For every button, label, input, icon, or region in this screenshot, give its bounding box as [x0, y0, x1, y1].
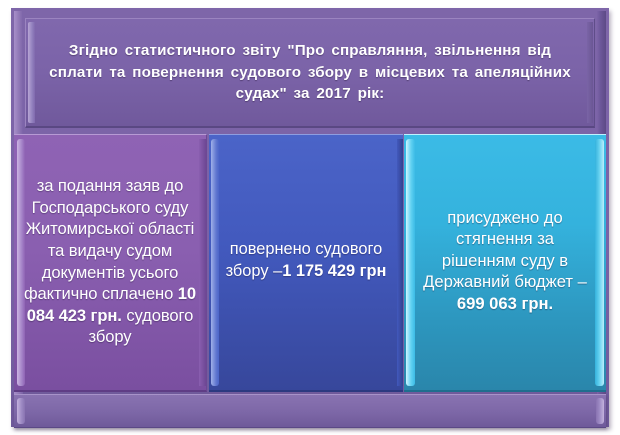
- statistic-box-paid[interactable]: за подання заяв до Господарського суду Ж…: [14, 134, 207, 392]
- returned-amount: 1 175 429 грн: [282, 262, 386, 280]
- bottom-banner-right-bevel: [596, 398, 604, 424]
- statistic-box-awarded[interactable]: присуджено до стягнення за рішенням суду…: [404, 134, 606, 392]
- awarded-lead-text: присуджено до стягнення за рішенням суду…: [423, 208, 587, 292]
- box-right-shadow: [199, 139, 206, 386]
- bottom-banner: [14, 394, 606, 428]
- box-right-shadow: [397, 139, 403, 386]
- statistic-box-paid-text: за подання заяв до Господарського суду Ж…: [21, 175, 199, 350]
- statistic-box-returned[interactable]: повернено судового збору –1 175 429 грн: [209, 134, 403, 392]
- box-left-highlight: [211, 139, 219, 386]
- title-banner-left-bevel: [28, 22, 35, 123]
- statistic-box-awarded-text: присуджено до стягнення за рішенням суду…: [420, 207, 590, 319]
- box-right-highlight: [595, 139, 604, 386]
- statistic-boxes-row: за подання заяв до Господарського суду Ж…: [14, 134, 606, 392]
- title-banner: Згідно статистичного звіту "Про справлян…: [25, 18, 595, 128]
- awarded-amount: 699 063 грн.: [457, 294, 553, 313]
- statistic-box-returned-text: повернено судового збору –1 175 429 грн: [220, 239, 392, 286]
- slide-canvas: Згідно статистичного звіту "Про справлян…: [0, 0, 620, 435]
- paid-lead-text: за подання заяв до Господарського суду Ж…: [24, 176, 194, 303]
- box-left-highlight: [406, 139, 415, 386]
- bottom-banner-left-bevel: [17, 398, 25, 424]
- title-banner-right-bevel: [587, 22, 593, 123]
- slide-title: Згідно статистичного звіту "Про справлян…: [45, 40, 575, 105]
